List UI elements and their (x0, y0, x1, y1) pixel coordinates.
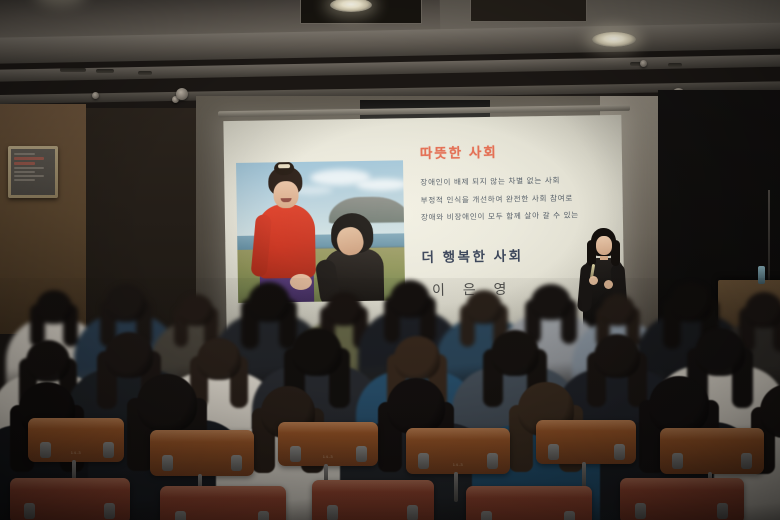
slide-heading-secondary: 더 행복한 사회 (421, 244, 523, 266)
audience: 14-314-314-3 (0, 278, 780, 520)
ceiling-slot-1 (60, 68, 86, 72)
chair-bracket (327, 505, 338, 520)
audience-member-head (649, 376, 709, 434)
chair-bracket (548, 444, 559, 460)
auditorium-chair[interactable] (312, 480, 434, 520)
chair-bracket (103, 442, 114, 458)
chair-bracket (40, 442, 51, 458)
chair-highlight (312, 480, 434, 492)
slide-heading-primary: 따뜻한 사회 (420, 141, 498, 162)
sprinkler-icon-3 (176, 88, 188, 100)
auditorium-chair[interactable] (10, 478, 130, 520)
ceiling-slot-2 (96, 69, 114, 73)
chair-bracket (356, 446, 367, 462)
ceiling-slot-3 (138, 71, 152, 75)
chair-bracket (717, 503, 728, 519)
photo-person-hairpin (278, 164, 290, 168)
chair-bracket (290, 446, 301, 462)
chair-bracket (104, 503, 115, 519)
audience-member-head (137, 374, 197, 432)
notice-line (14, 162, 35, 165)
mic-stand (768, 190, 770, 280)
chair-highlight (406, 428, 510, 440)
chair-bracket (487, 453, 498, 469)
chair-bracket (175, 511, 186, 520)
notice-line (14, 179, 35, 181)
notice-line (14, 153, 35, 155)
notice-line (14, 157, 44, 160)
ceiling-projector-recess (470, 0, 587, 22)
sprinkler-icon-5 (640, 60, 647, 67)
chair-highlight (278, 422, 378, 433)
auditorium-chair[interactable] (620, 478, 744, 520)
ceiling-slot-5 (668, 63, 682, 67)
chair-bracket (24, 503, 35, 519)
chair-highlight (466, 486, 592, 498)
slide-body-line-3: 장애와 비장애인이 모두 함께 살아 갈 수 있는 (421, 206, 617, 227)
photo-person-face (273, 181, 298, 208)
chair-bracket (231, 455, 242, 471)
chair-bracket (741, 453, 752, 469)
notice-line (14, 175, 44, 177)
chair-bracket (481, 511, 492, 520)
chair-bracket (418, 453, 429, 469)
chair-number-label: 14-3 (323, 454, 333, 459)
notice-paper (11, 149, 55, 195)
chair-highlight (620, 478, 744, 490)
notice-line (14, 171, 35, 173)
wall-notice-frame (8, 146, 58, 198)
auditorium-chair[interactable] (466, 486, 592, 520)
chair-bracket (672, 453, 683, 469)
photo-scene: 따뜻한 사회 장애인이 배제 되지 않는 차별 없는 사회 부정적 인식을 개선… (0, 0, 780, 520)
chair-highlight (10, 478, 130, 490)
auditorium-chair[interactable] (160, 486, 286, 520)
chair-highlight (160, 486, 286, 498)
notice-line (14, 167, 44, 169)
chair-highlight (28, 418, 124, 429)
chair-leg (454, 472, 458, 502)
chair-bracket (614, 444, 625, 460)
presenter-face (596, 236, 612, 255)
chair-bracket (407, 505, 418, 520)
audience-member-head (387, 378, 445, 434)
chair-highlight (536, 420, 636, 431)
chair-bracket (635, 503, 646, 519)
ceiling-downlight-2 (592, 32, 636, 47)
chair-bracket (564, 511, 575, 520)
sprinkler-icon-1 (92, 92, 99, 99)
slide-body-text: 장애인이 배제 되지 않는 차별 없는 사회 부정적 인식을 개선하여 완전한 … (420, 171, 617, 227)
chair-bracket (162, 455, 173, 471)
chair-highlight (150, 430, 254, 442)
chair-number-label: 14-3 (453, 462, 463, 467)
chair-number-label: 14-3 (71, 450, 81, 455)
photo-cloud (356, 178, 405, 191)
chair-bracket (258, 511, 269, 520)
chair-highlight (660, 428, 764, 440)
